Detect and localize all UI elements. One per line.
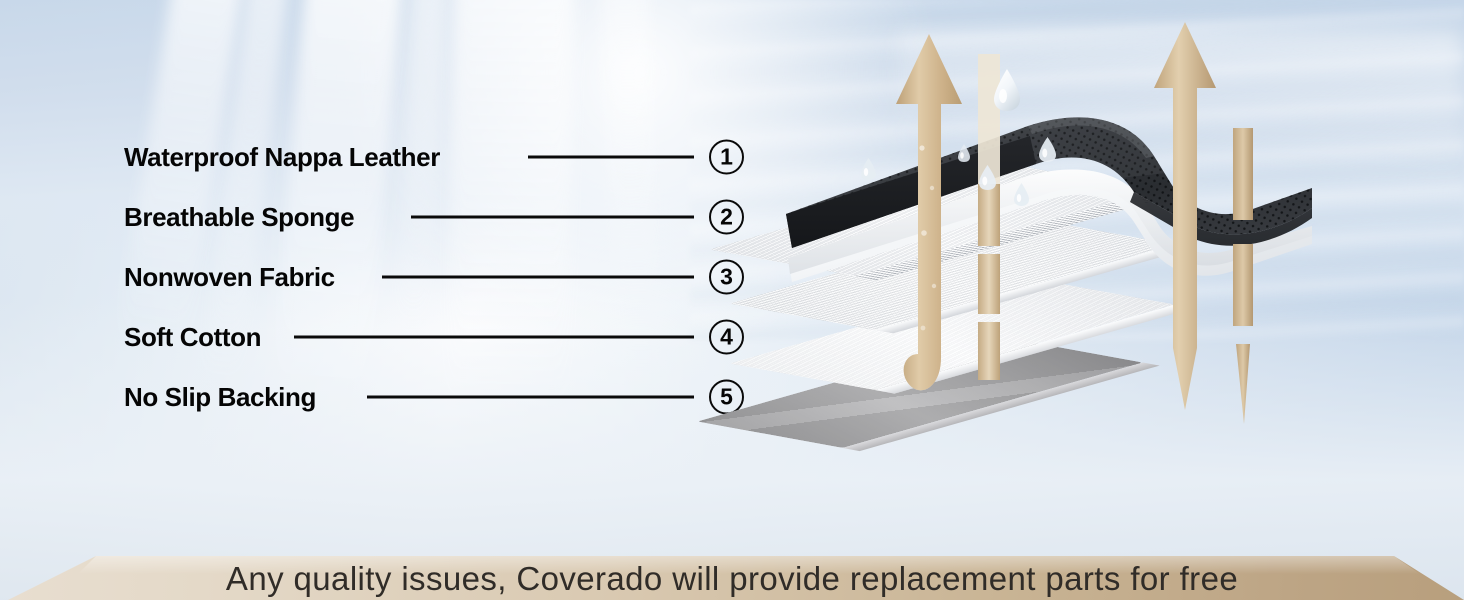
legend-row-4: Soft Cotton 4 [124,317,744,357]
legend-row-5: No Slip Backing 5 [124,377,744,417]
airflow-arrow-main-icon [892,28,966,428]
legend-label-3: Nonwoven Fabric [124,264,335,290]
water-drop-icon-3 [978,164,997,191]
airflow-strip-2-icon [1230,128,1256,428]
airflow-arrow-right-icon [1150,18,1220,418]
legend-row-3: Nonwoven Fabric 3 [124,257,744,297]
legend-label-1: Waterproof Nappa Leather [124,144,440,170]
legend-label-4: Soft Cotton [124,324,261,350]
legend-leader-line-1 [528,156,694,159]
banner-text: Any quality issues, Coverado will provid… [0,558,1464,600]
exploded-layer-illustration [760,10,1464,510]
legend-leader-line-5 [367,396,694,399]
legend-row-1: Waterproof Nappa Leather 1 [124,137,744,177]
legend-label-2: Breathable Sponge [124,204,354,230]
legend-badge-4: 4 [709,320,744,355]
water-drop-icon-5 [1038,136,1057,163]
legend-leader-line-2 [411,216,694,219]
legend-row-2: Breathable Sponge 2 [124,197,744,237]
water-drop-large-icon [992,68,1022,112]
infographic-stage: Waterproof Nappa Leather 1 Breathable Sp… [0,0,1464,600]
legend-label-5: No Slip Backing [124,384,316,410]
legend-badge-3: 3 [709,260,744,295]
legend-badge-1: 1 [709,140,744,175]
water-drop-icon-1 [860,157,877,181]
layer-legend: Waterproof Nappa Leather 1 Breathable Sp… [0,0,770,470]
water-drop-icon-2 [957,143,971,163]
legend-leader-line-4 [294,336,694,339]
water-drop-icon-4 [1013,182,1030,207]
legend-badge-2: 2 [709,200,744,235]
guarantee-banner: Any quality issues, Coverado will provid… [0,528,1464,600]
legend-leader-line-3 [382,276,694,279]
